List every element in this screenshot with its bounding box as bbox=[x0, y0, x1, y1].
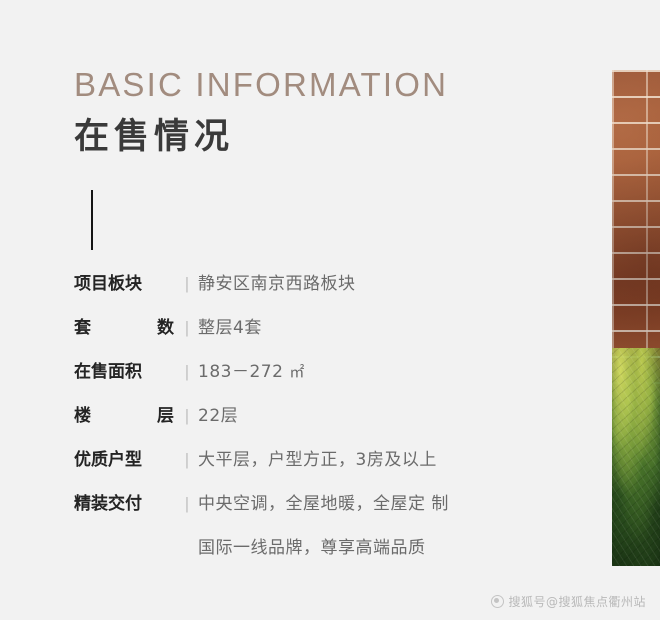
brick-wall-photo bbox=[612, 70, 660, 566]
watermark-text: 搜狐号@搜狐焦点衢州站 bbox=[508, 593, 646, 610]
spec-row-continuation: 国际一线品牌，尊享高端品质 bbox=[74, 526, 574, 570]
spec-label-char: 套 bbox=[74, 306, 91, 350]
spec-row: 在售面积 | 183－272 ㎡ bbox=[74, 350, 574, 394]
spec-label: 精装交付 bbox=[74, 482, 176, 526]
spec-label-char: 层 bbox=[157, 394, 174, 438]
spec-label-char: 楼 bbox=[74, 394, 91, 438]
spec-value-number: 183－272 bbox=[198, 362, 283, 382]
spec-divider-icon: | bbox=[176, 262, 198, 306]
spec-row: 优质户型 | 大平层，户型方正，3房及以上 bbox=[74, 438, 574, 482]
spec-divider-icon: | bbox=[176, 394, 198, 438]
spec-label: 项目板块 bbox=[74, 262, 176, 306]
spec-divider-icon: | bbox=[176, 306, 198, 350]
spec-row: 精装交付 | 中央空调，全屋地暖，全屋定 制 bbox=[74, 482, 574, 526]
header-block: BASIC INFORMATION 在售情况 bbox=[74, 66, 554, 158]
page-title-cn: 在售情况 bbox=[74, 116, 554, 158]
foliage-texture bbox=[612, 348, 660, 566]
watermark: 搜狐号@搜狐焦点衢州站 bbox=[491, 593, 646, 610]
spec-value: 整层4套 bbox=[198, 306, 262, 350]
spec-divider-icon: | bbox=[176, 482, 198, 526]
spec-row: 项目板块 | 静安区南京西路板块 bbox=[74, 262, 574, 306]
spec-value: 22层 bbox=[198, 394, 238, 438]
sohu-logo-icon bbox=[491, 595, 504, 608]
poster-canvas: BASIC INFORMATION 在售情况 项目板块 | 静安区南京西路板块 … bbox=[0, 0, 660, 620]
spec-value: 中央空调，全屋地暖，全屋定 制 bbox=[198, 482, 449, 526]
spec-value-line-2: 国际一线品牌，尊享高端品质 bbox=[176, 526, 426, 570]
spec-label: 在售面积 bbox=[74, 350, 176, 394]
spec-label: 套 数 bbox=[74, 306, 176, 350]
accent-divider-rule bbox=[91, 190, 93, 250]
spec-label: 楼 层 bbox=[74, 394, 176, 438]
spec-value: 183－272 ㎡ bbox=[198, 350, 305, 394]
spec-list: 项目板块 | 静安区南京西路板块 套 数 | 整层4套 在售面积 | 183－2… bbox=[74, 262, 574, 570]
spec-label-char: 数 bbox=[157, 306, 174, 350]
page-title-en: BASIC INFORMATION bbox=[74, 66, 554, 104]
spec-value: 静安区南京西路板块 bbox=[198, 262, 356, 306]
spec-value: 大平层，户型方正，3房及以上 bbox=[198, 438, 437, 482]
spec-value-unit: ㎡ bbox=[289, 363, 305, 381]
spec-divider-icon: | bbox=[176, 438, 198, 482]
spec-divider-icon: | bbox=[176, 350, 198, 394]
spec-row: 套 数 | 整层4套 bbox=[74, 306, 574, 350]
spec-label: 优质户型 bbox=[74, 438, 176, 482]
spec-row: 楼 层 | 22层 bbox=[74, 394, 574, 438]
